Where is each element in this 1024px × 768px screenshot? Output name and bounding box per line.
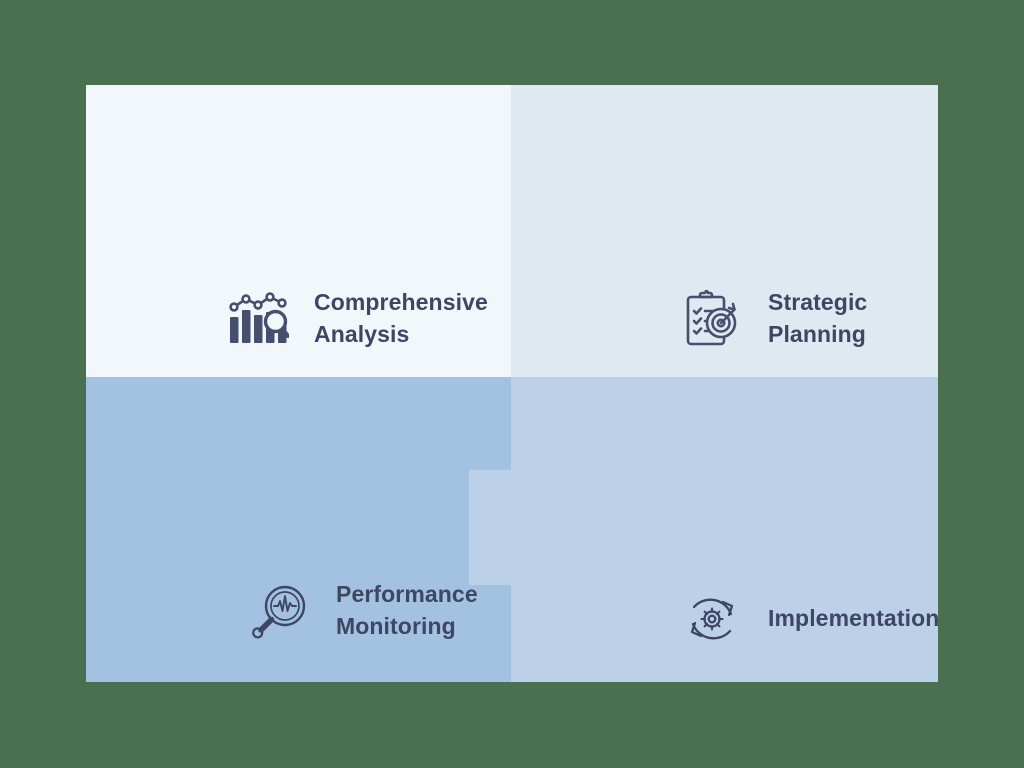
cell-content-implementation: Implementation: [678, 585, 939, 653]
cell-content-strategic-planning: Strategic Planning: [678, 285, 867, 353]
cell-content-performance-monitoring: Performance Monitoring: [246, 577, 478, 645]
magnifier-pulse-icon: [246, 577, 314, 645]
quadrant-label-performance-monitoring: Performance Monitoring: [336, 579, 478, 642]
quadrant-label-comprehensive-analysis: Comprehensive Analysis: [314, 287, 488, 350]
cell-content-comprehensive-analysis: Comprehensive Analysis: [224, 285, 488, 353]
gear-cycle-arrows-icon: [678, 585, 746, 653]
quadrant-strategic-planning[interactable]: [511, 85, 938, 419]
four-quadrant-puzzle-card: Comprehensive Analysis: [86, 85, 938, 682]
clipboard-checklist-target-icon: [678, 285, 746, 353]
canvas: Comprehensive Analysis: [0, 0, 1024, 768]
quadrant-label-strategic-planning: Strategic Planning: [768, 287, 867, 350]
quadrant-label-implementation: Implementation: [768, 603, 939, 635]
bar-chart-line-magnifier-icon: [224, 285, 292, 353]
